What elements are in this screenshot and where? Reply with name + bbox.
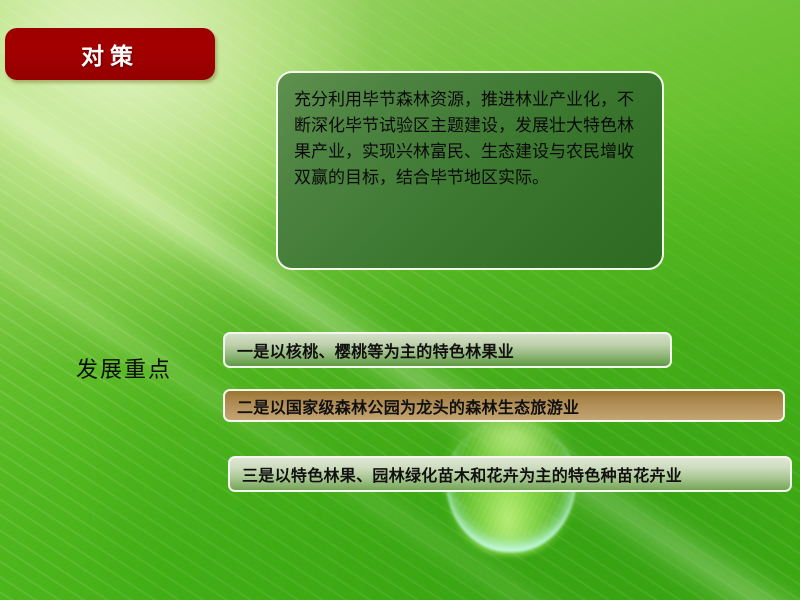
section-title-badge: 对策 bbox=[5, 28, 215, 80]
paragraph-callout-box: 充分利用毕节森林资源，推进林业产业化，不断深化毕节试验区主题建设，发展壮大特色林… bbox=[276, 71, 664, 270]
focus-point-bar-3: 三是以特色林果、园林绿化苗木和花卉为主的特色种苗花卉业 bbox=[228, 456, 792, 492]
slide-canvas: 对策 充分利用毕节森林资源，推进林业产业化，不断深化毕节试验区主题建设，发展壮大… bbox=[0, 0, 800, 600]
focus-point-text-1: 一是以核桃、樱桃等为主的特色林果业 bbox=[237, 338, 514, 362]
section-title-text: 对策 bbox=[81, 37, 139, 71]
paragraph-callout-text: 充分利用毕节森林资源，推进林业产业化，不断深化毕节试验区主题建设，发展壮大特色林… bbox=[294, 87, 646, 191]
development-focus-label: 发展重点 bbox=[76, 352, 172, 384]
focus-point-bar-1: 一是以核桃、樱桃等为主的特色林果业 bbox=[223, 332, 672, 368]
focus-point-text-3: 三是以特色林果、园林绿化苗木和花卉为主的特色种苗花卉业 bbox=[242, 462, 682, 486]
focus-point-text-2: 二是以国家级森林公园为龙头的森林生态旅游业 bbox=[237, 394, 579, 418]
focus-point-bar-2: 二是以国家级森林公园为龙头的森林生态旅游业 bbox=[223, 389, 785, 422]
